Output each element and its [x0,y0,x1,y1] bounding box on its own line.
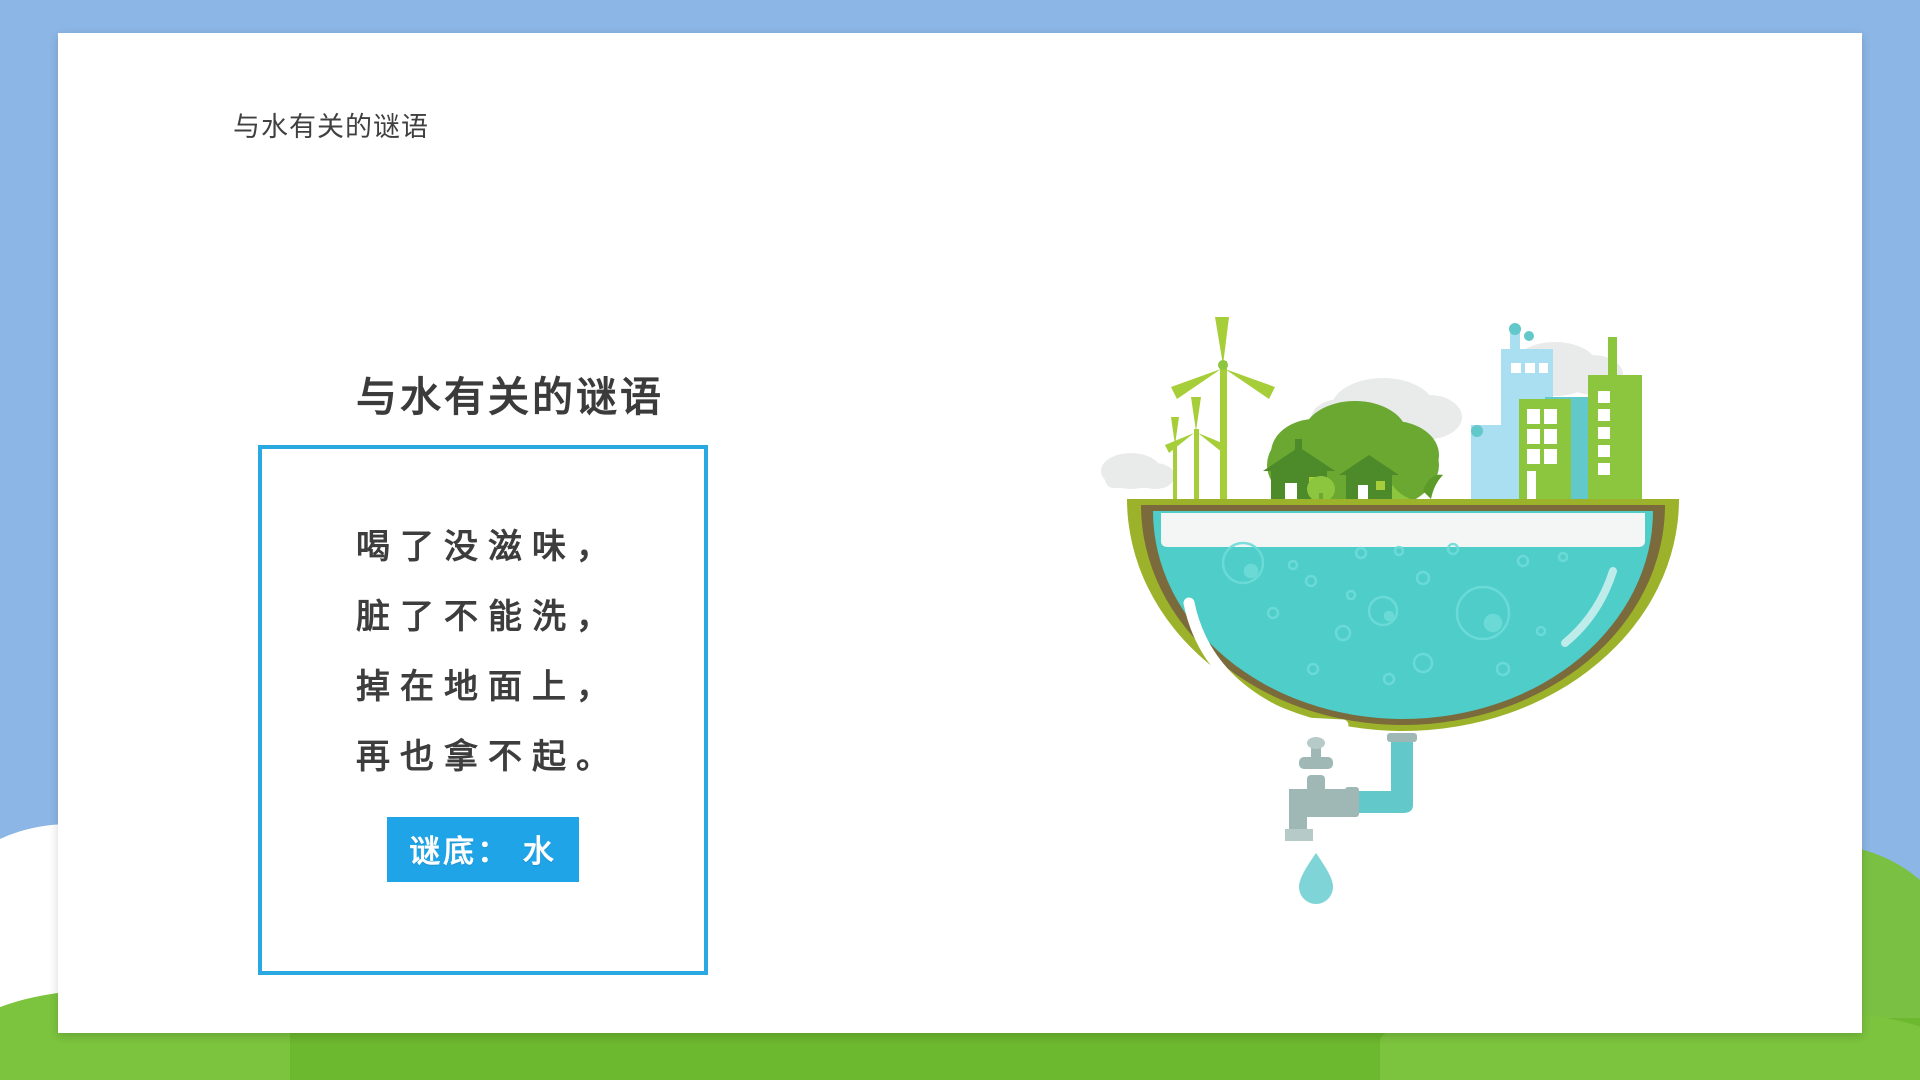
bowl-highlight-dash [1305,723,1343,725]
riddle-line: 喝了没滋味， [346,515,620,579]
riddle-box: 喝了没滋味， 脏了不能洗， 掉在地面上， 再也拿不起。 谜底： 水 [258,445,708,975]
shrub-icon [1307,476,1335,502]
slide-card: 与水有关的谜语 与水有关的谜语 喝了没滋味， 脏了不能洗， 掉在地面上， 再也拿… [58,33,1862,1033]
pipe-and-faucet [1285,733,1417,904]
wind-turbine-large-icon [1171,317,1275,501]
wind-turbine-small-icon [1165,397,1227,501]
riddle-line: 再也拿不起。 [346,725,620,789]
riddle-line: 脏了不能洗， [346,585,620,649]
riddle-lines: 喝了没滋味， 脏了不能洗， 掉在地面上， 再也拿不起。 [346,515,620,789]
riddle-line: 掉在地面上， [346,655,620,719]
water-drop-icon [1299,853,1333,904]
page-title: 与水有关的谜语 [356,363,778,423]
cloud-left-icon [1101,453,1175,489]
slide-header-title: 与水有关的谜语 [233,105,429,144]
riddle-content-column: 与水有关的谜语 喝了没滋味， 脏了不能洗， 掉在地面上， 再也拿不起。 谜底： … [258,363,778,975]
water-bowl [1127,499,1679,731]
answer-badge: 谜底： 水 [387,817,579,882]
slide-stage: 与水有关的谜语 与水有关的谜语 喝了没滋味， 脏了不能洗， 掉在地面上， 再也拿… [0,0,1920,1080]
eco-city-water-bowl-illustration [1093,313,1713,933]
